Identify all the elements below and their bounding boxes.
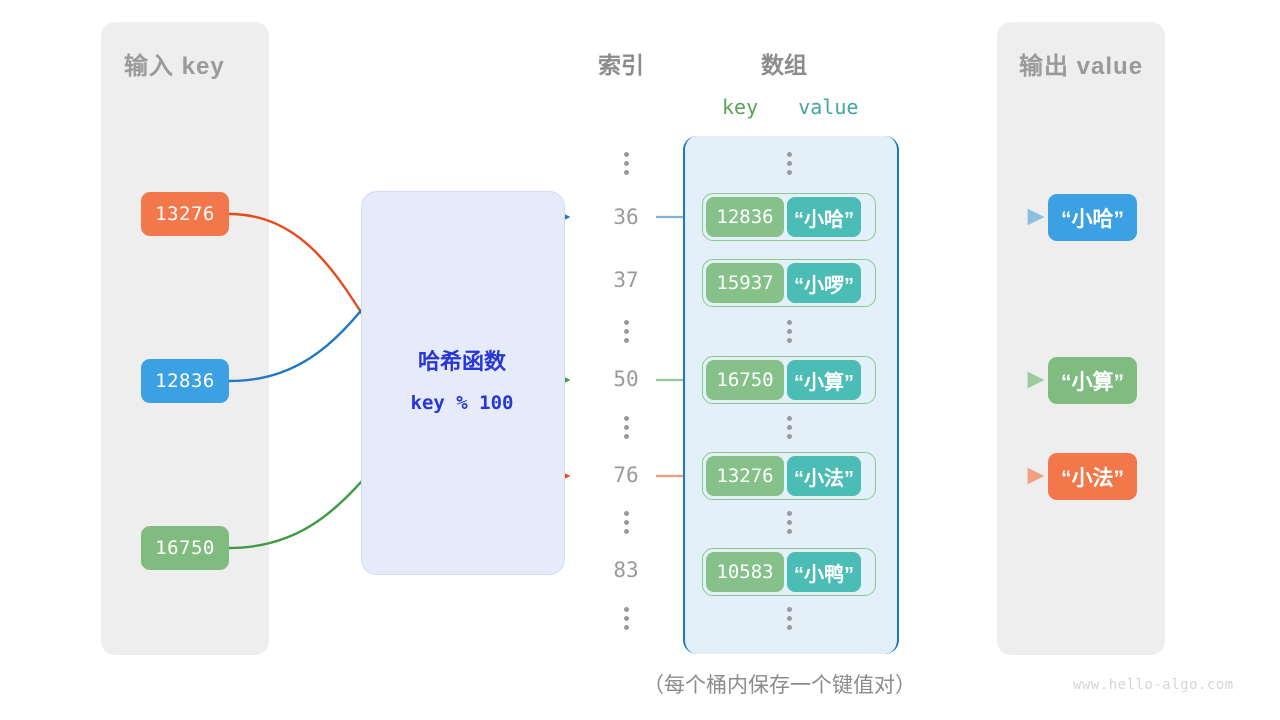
input-key-box[interactable]: 13276 <box>141 192 229 236</box>
bucket-value: “小法” <box>787 456 861 496</box>
hash-function-name: 哈希函数 <box>361 344 563 376</box>
index-label: 50 <box>596 367 656 391</box>
index-column-header: 索引 <box>598 46 644 80</box>
array-bucket[interactable]: 10583 “小鸭” <box>702 548 876 596</box>
bucket-key: 15937 <box>706 263 784 303</box>
index-label: 83 <box>596 558 656 582</box>
hash-function-formula: key % 100 <box>361 392 563 414</box>
bucket-key: 16750 <box>706 360 784 400</box>
index-ellipsis <box>619 416 633 443</box>
array-bucket[interactable]: 12836 “小哈” <box>702 193 876 241</box>
index-ellipsis <box>619 320 633 347</box>
output-value-box[interactable]: “小法” <box>1048 453 1137 500</box>
array-column-header: 数组 <box>761 46 807 80</box>
array-ellipsis <box>782 607 796 634</box>
value-header-label: value <box>798 95 858 119</box>
output-value-box[interactable]: “小算” <box>1048 357 1137 404</box>
hash-function-box <box>361 191 565 575</box>
array-bucket[interactable]: 13276 “小法” <box>702 452 876 500</box>
index-ellipsis <box>619 511 633 538</box>
array-ellipsis <box>782 416 796 443</box>
bucket-key: 13276 <box>706 456 784 496</box>
bucket-key: 10583 <box>706 552 784 592</box>
input-key-box[interactable]: 12836 <box>141 359 229 403</box>
bucket-key: 12836 <box>706 197 784 237</box>
diagram-canvas: 输入 key 输出 value 索引 数组 key value <box>0 0 1280 720</box>
diagram-caption: （每个桶内保存一个键值对） <box>643 669 916 699</box>
key-value-header: key value <box>722 95 858 119</box>
bucket-value: “小鸭” <box>787 552 861 592</box>
index-label: 76 <box>596 463 656 487</box>
array-ellipsis <box>782 320 796 347</box>
index-label: 36 <box>596 205 656 229</box>
output-value-box[interactable]: “小哈” <box>1048 194 1137 241</box>
array-ellipsis <box>782 511 796 538</box>
input-panel-title: 输入 key <box>124 46 225 81</box>
index-label: 37 <box>596 268 656 292</box>
array-ellipsis <box>782 152 796 179</box>
array-bucket[interactable]: 16750 “小算” <box>702 356 876 404</box>
bucket-value: “小啰” <box>787 263 861 303</box>
key-header-label: key <box>722 95 758 119</box>
input-key-box[interactable]: 16750 <box>141 526 229 570</box>
output-panel-title: 输出 value <box>1019 46 1143 81</box>
index-ellipsis <box>619 152 633 179</box>
output-panel <box>997 22 1165 655</box>
bucket-value: “小哈” <box>787 197 861 237</box>
bucket-value: “小算” <box>787 360 861 400</box>
index-ellipsis <box>619 607 633 634</box>
watermark: www.hello-algo.com <box>1073 677 1234 693</box>
array-bucket[interactable]: 15937 “小啰” <box>702 259 876 307</box>
